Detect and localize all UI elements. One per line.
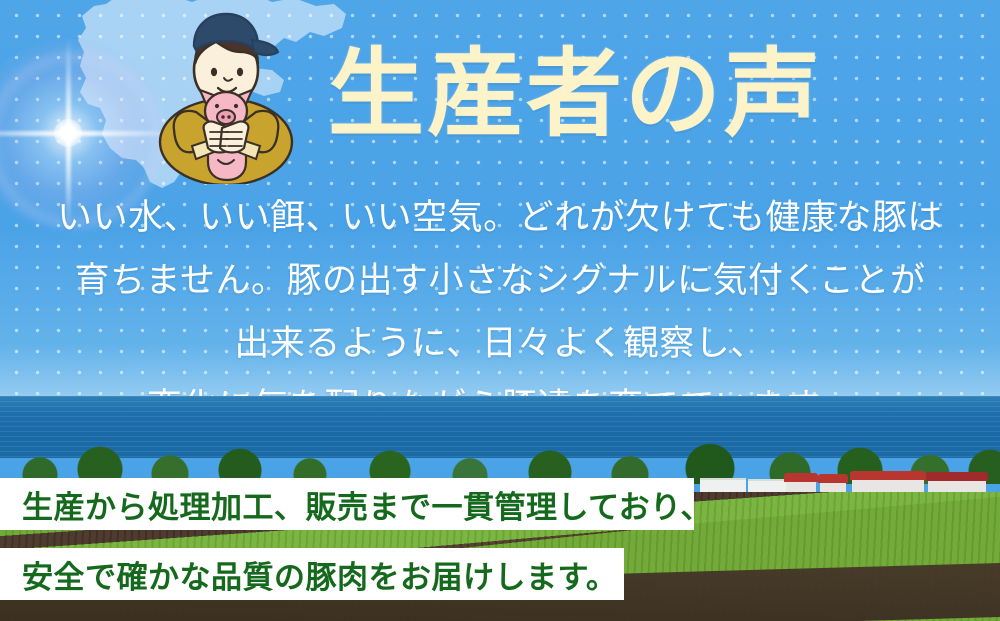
farmer-holding-piglet-icon <box>152 12 300 184</box>
body-line-3: 出来るように、日々よく観察し、 <box>0 312 1000 375</box>
producer-voice-banner: 生産者の声 いい水、いい餌、いい空気。どれが欠けても健康な豚は 育ちません。豚の… <box>0 0 1000 621</box>
body-line-1: いい水、いい餌、いい空気。どれが欠けても健康な豚は <box>0 186 1000 249</box>
caption-banner-2: 安全で確かな品質の豚肉をお届けします。 <box>0 548 624 600</box>
body-line-2: 育ちません。豚の出す小さなシグナルに気付くことが <box>0 249 1000 312</box>
caption-text-1: 生産から処理加工、販売まで一貫管理しており、 <box>22 482 712 527</box>
caption-text-2: 安全で確かな品質の豚肉をお届けします。 <box>22 552 617 597</box>
page-title: 生産者の声 <box>328 44 823 146</box>
caption-banner-1: 生産から処理加工、販売まで一貫管理しており、 <box>0 478 694 530</box>
